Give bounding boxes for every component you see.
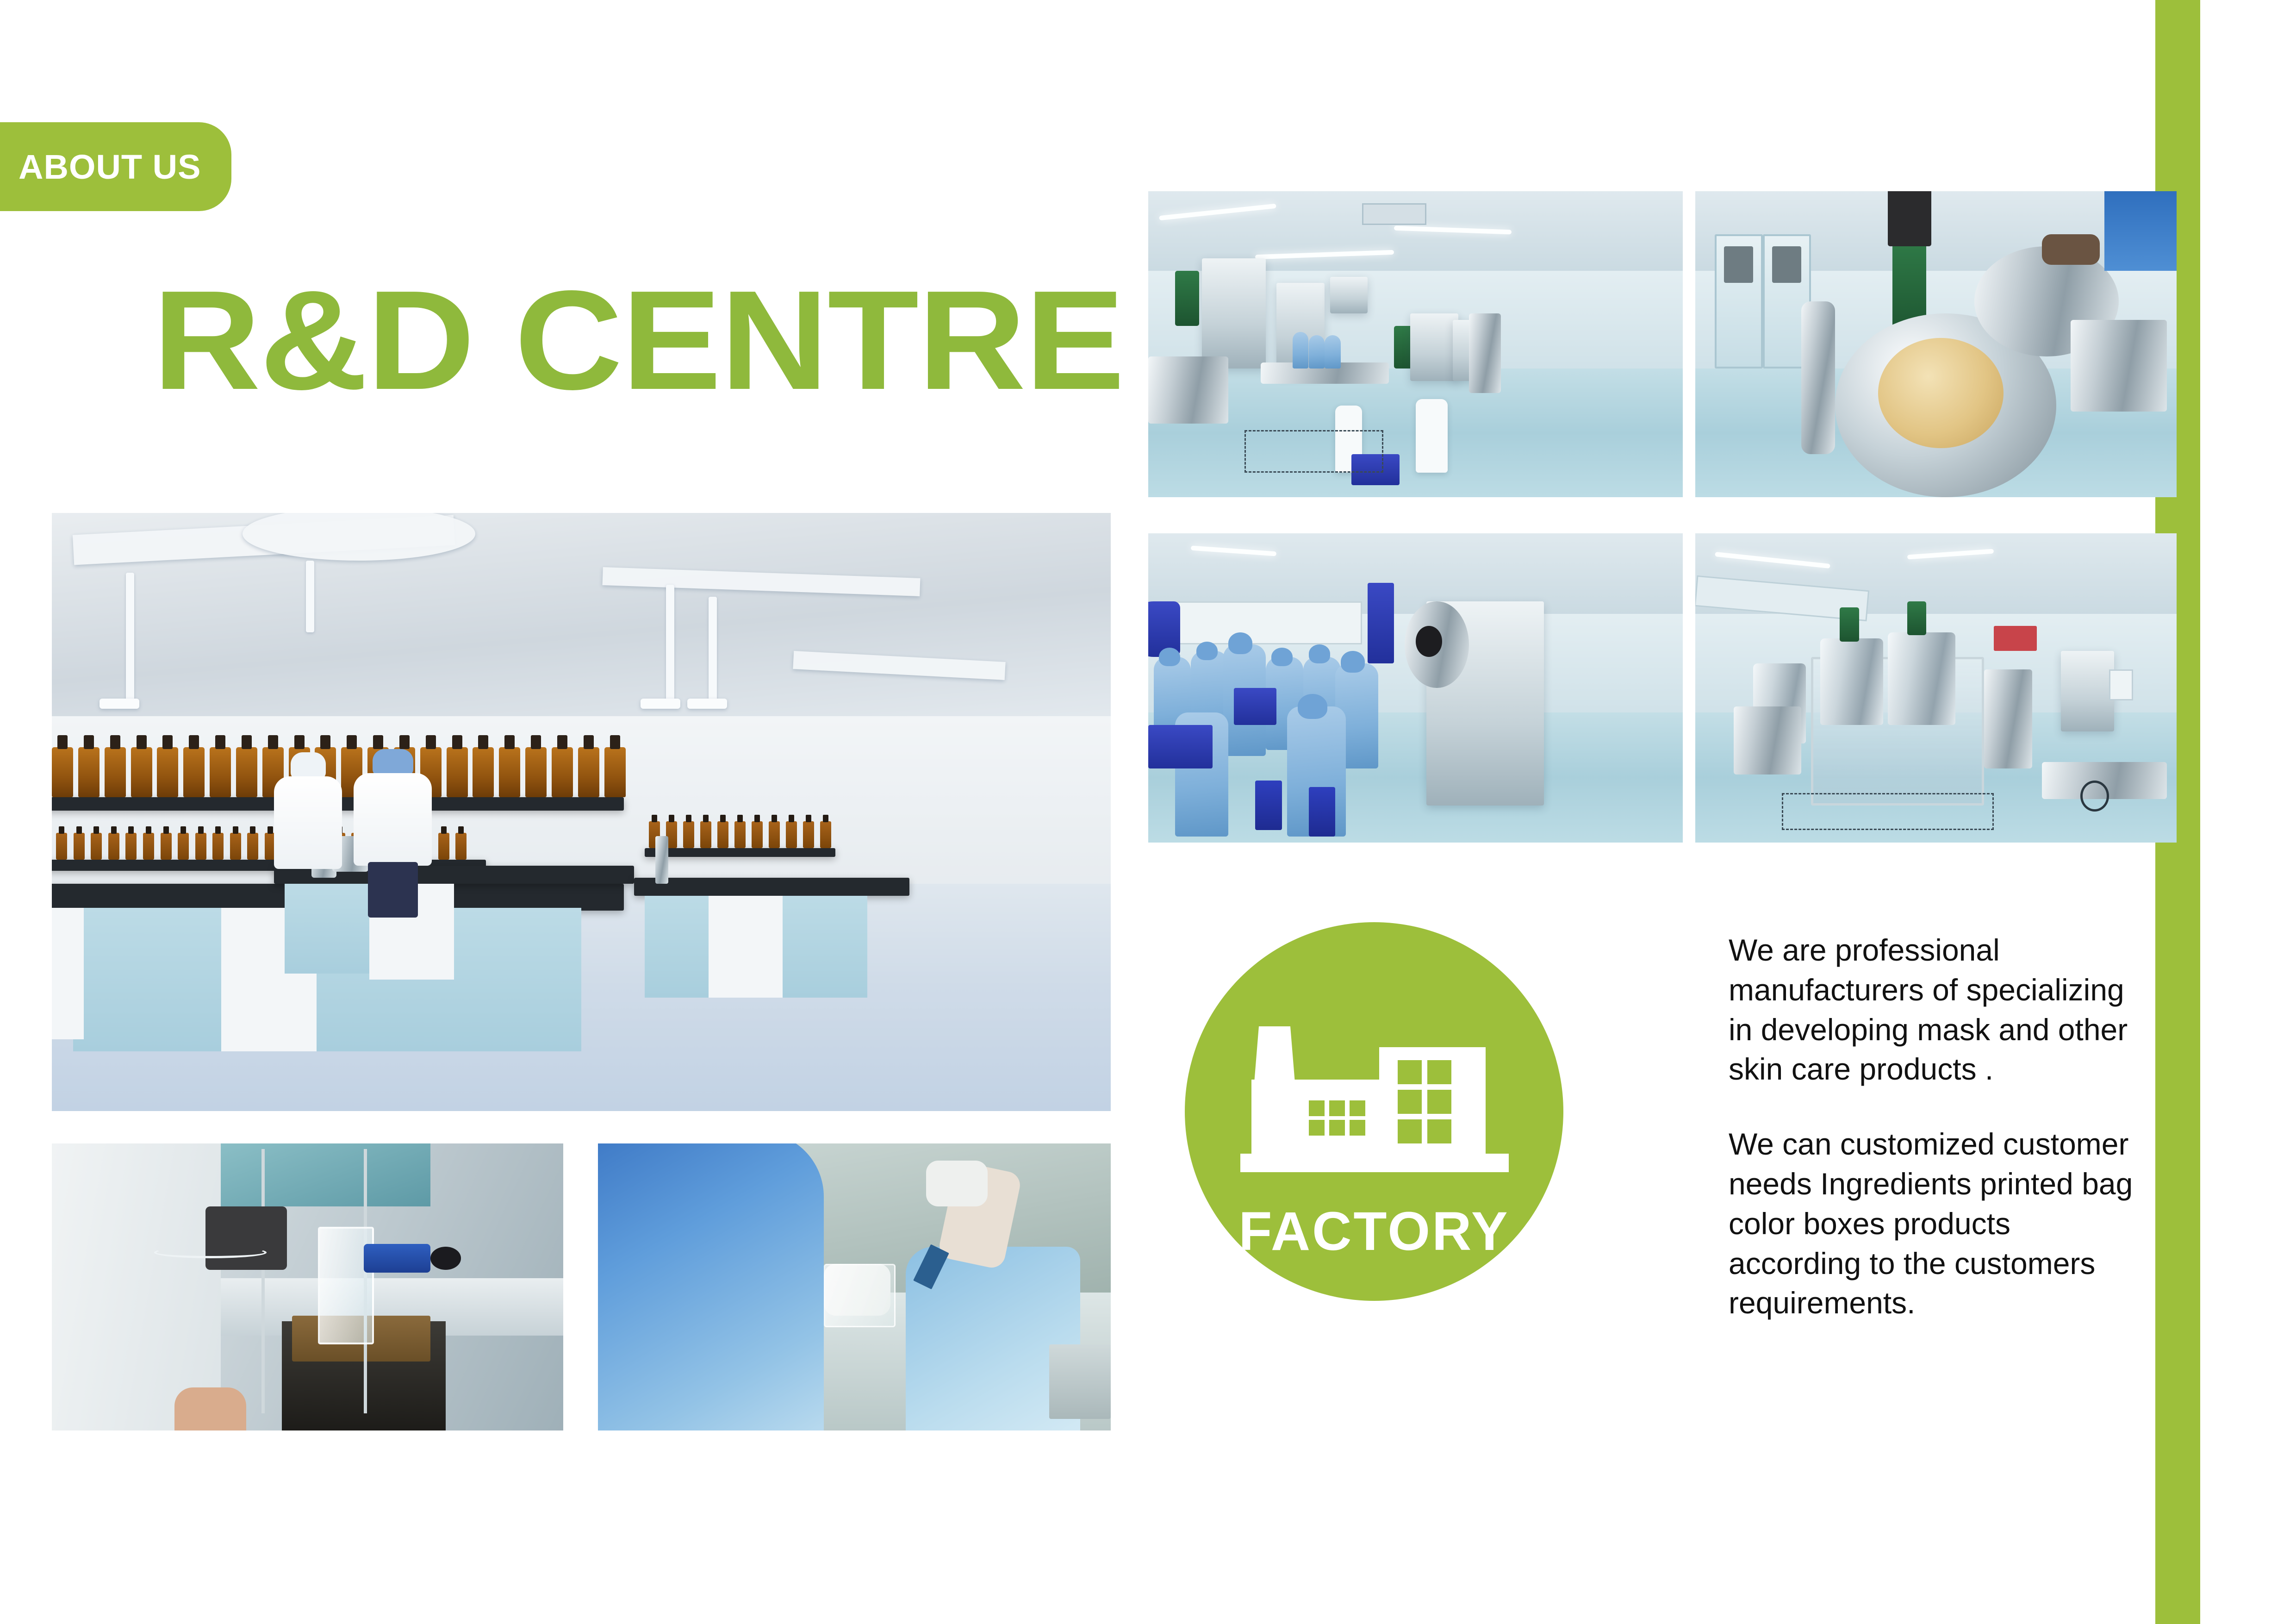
factory-badge-label: FACTORY (1185, 1200, 1563, 1263)
mixing-vessel-photo (1695, 191, 2177, 497)
lab-technician (274, 752, 342, 920)
cleanroom-production-line-photo (1148, 191, 1683, 497)
factory-icon (1240, 1001, 1509, 1186)
main-laboratory-photo (52, 513, 1111, 1111)
factory-badge: FACTORY (1185, 922, 1563, 1356)
about-us-tab[interactable]: ABOUT US (0, 122, 231, 211)
description-paragraph-1: We are professional manufacturers of spe… (1729, 931, 2136, 1089)
description-paragraph-2: We can customized customer needs Ingredi… (1729, 1124, 2136, 1323)
lab-technician (354, 749, 432, 929)
pipetting-technicians-photo (598, 1143, 1111, 1430)
packaging-workers-photo (1148, 533, 1683, 843)
beaker-hotplate-photo (52, 1143, 563, 1430)
page-title: R&D CENTRE (153, 269, 1124, 411)
emulsifying-tanks-photo (1695, 533, 2177, 843)
about-description: We are professional manufacturers of spe… (1729, 931, 2136, 1323)
about-us-tab-label: ABOUT US (0, 147, 201, 187)
